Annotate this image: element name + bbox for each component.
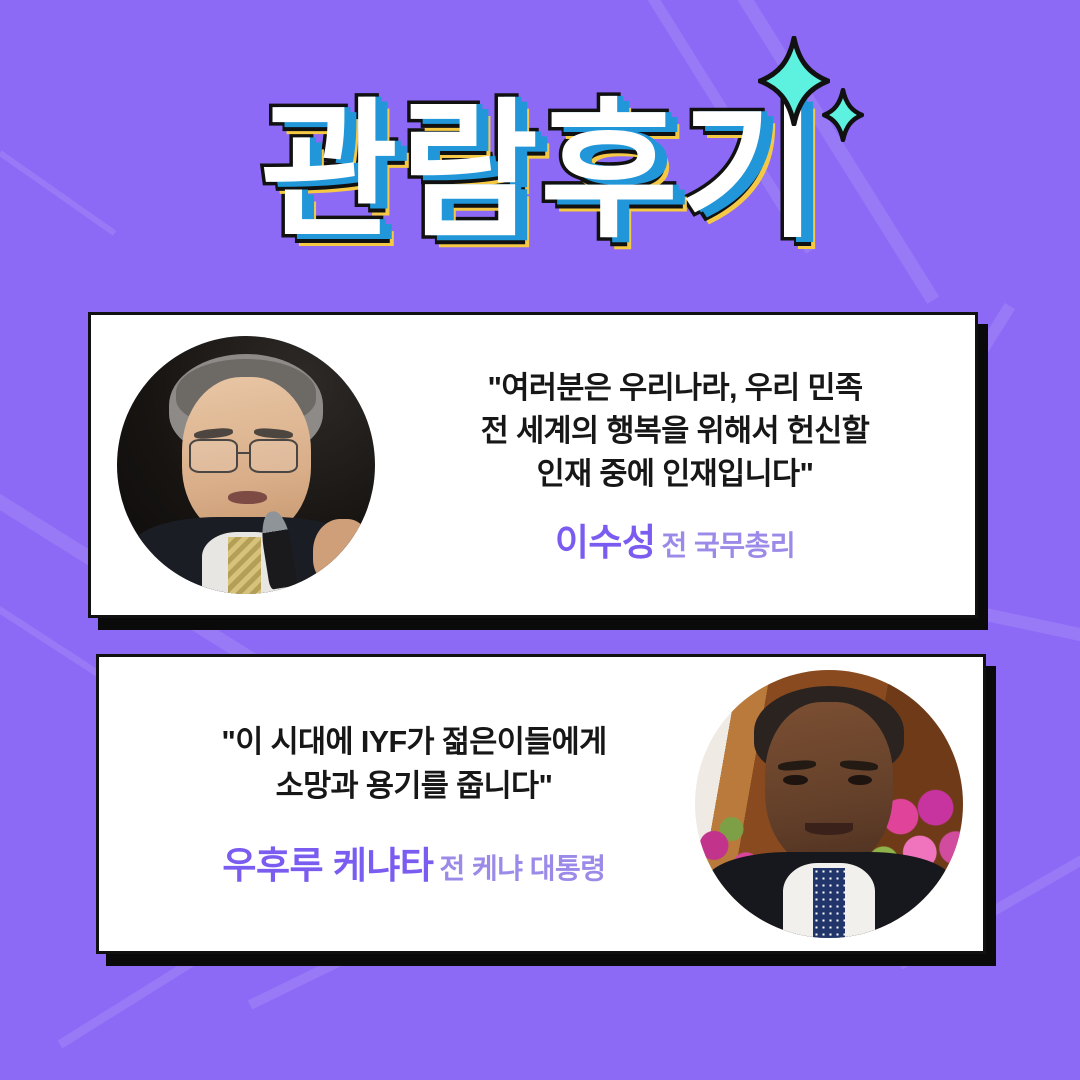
testimonial-content: "여러분은 우리나라, 우리 민족 전 세계의 행복을 위해서 헌신할 인재 중… xyxy=(375,367,975,564)
quote-line: 전 세계의 행복을 위해서 헌신할 xyxy=(393,410,957,453)
quote-line: 소망과 용기를 줍니다" xyxy=(133,765,695,808)
speaker-name: 이수성 xyxy=(555,522,656,563)
sparkle-icon xyxy=(758,36,830,126)
page-title-text: 관람후기 xyxy=(260,96,820,246)
attribution: 이수성전 국무총리 xyxy=(393,523,957,564)
quote-line: "이 시대에 IYF가 젊은이들에게 xyxy=(133,721,695,764)
speaker-role: 전 케냐 대통령 xyxy=(439,853,605,884)
testimonial-card[interactable]: "여러분은 우리나라, 우리 민족 전 세계의 행복을 위해서 헌신할 인재 중… xyxy=(88,312,978,618)
avatar xyxy=(695,670,963,938)
poster-canvas: 관람후기 "여러분은 우리나라, 우리 민족 전 세계의 행복을 위해서 헌신할… xyxy=(0,0,1080,1080)
sparkle-icon xyxy=(822,88,864,142)
testimonial-content: "이 시대에 IYF가 젊은이들에게 소망과 용기를 줍니다" 우후루 케냐타전… xyxy=(99,721,695,886)
testimonial-card[interactable]: "이 시대에 IYF가 젊은이들에게 소망과 용기를 줍니다" 우후루 케냐타전… xyxy=(96,654,986,954)
avatar xyxy=(117,336,375,594)
speaker-name: 우후루 케냐타 xyxy=(222,845,433,886)
speaker-role: 전 국무총리 xyxy=(662,530,796,561)
quote-line: 인재 중에 인재입니다" xyxy=(393,453,957,496)
quote-line: "여러분은 우리나라, 우리 민족 xyxy=(393,367,957,410)
attribution: 우후루 케냐타전 케냐 대통령 xyxy=(133,846,695,887)
page-title: 관람후기 xyxy=(0,96,1080,246)
